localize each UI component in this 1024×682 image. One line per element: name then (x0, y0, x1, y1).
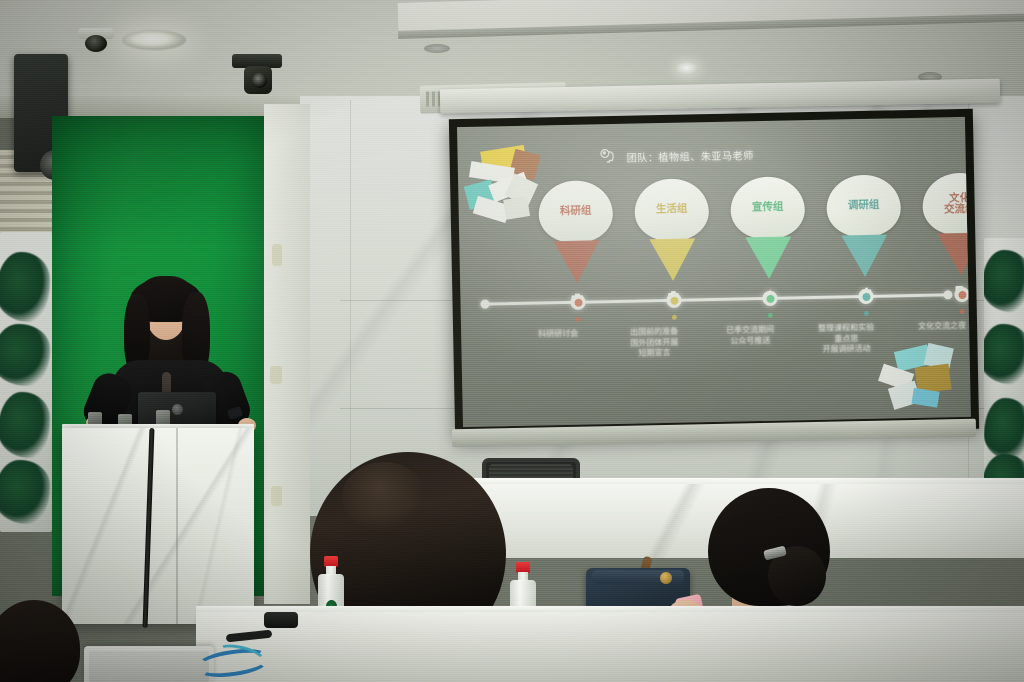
timeline-node-4 (858, 289, 873, 304)
mic-base (264, 612, 298, 628)
dome-camera-icon (78, 28, 114, 54)
slide-balloon-row: 科研组 生活组 (458, 173, 968, 303)
wall-mural-right (984, 238, 1024, 508)
front-desk (196, 612, 1024, 682)
slide-title: 团队：植物组、朱亚马老师 (597, 143, 754, 168)
pillar-stain-3 (271, 486, 282, 506)
timeline-dot-2 (672, 315, 677, 320)
downlight-2 (676, 62, 698, 75)
balloon-top-5: 文化 交流组 (922, 172, 971, 235)
caption-4: 整理课程和实验 重点思 开展调研活动 (798, 322, 895, 355)
brain-idea-icon (597, 146, 619, 168)
caption-3: 已季交流期间 公众号推送 (702, 324, 798, 347)
balloon-cone-1 (553, 240, 600, 283)
caption-5: 文化交流之夜 (894, 320, 971, 332)
balloon-item-1: 科研组 (538, 180, 614, 283)
balloon-item-5: 文化 交流组 (922, 172, 971, 275)
balloon-label-4: 调研组 (848, 200, 880, 212)
timeline-dot-3 (768, 313, 773, 318)
ceiling-light-icon (122, 30, 186, 50)
balloon-item-4: 调研组 (826, 174, 902, 277)
balloon-top-1: 科研组 (538, 180, 613, 243)
timeline-node-3 (762, 291, 777, 306)
slide-corner-art-bottom-right (873, 345, 964, 421)
timeline-dot-5 (960, 309, 965, 314)
projector-screen-frame[interactable]: 团队：植物组、朱亚马老师 科研组 生活组 (449, 109, 979, 439)
balloon-top-3: 宣传组 (730, 176, 805, 239)
balloon-cone-4 (841, 235, 888, 278)
downlight-1 (424, 44, 450, 53)
timeline-cap-left (480, 300, 489, 309)
timeline-cap-right (943, 290, 952, 299)
lecture-room-photo: 团队：植物组、朱亚马老师 科研组 生活组 (0, 0, 1024, 682)
balloon-label-3: 宣传组 (752, 202, 784, 214)
timeline-node-2 (666, 293, 681, 308)
slide-captions: 科研研讨会 出国前的准备 国外团体开展 短期宣言 已季交流期间 公众号推送 整理… (461, 321, 969, 331)
timeline-node-1 (570, 295, 585, 310)
balloon-item-3: 宣传组 (730, 176, 806, 279)
timeline-dot-4 (864, 311, 869, 316)
balloon-label-1: 科研组 (560, 206, 592, 218)
balloon-label-2: 生活组 (656, 204, 688, 216)
balloon-item-2: 生活组 (634, 178, 710, 281)
wall-seam-v1 (350, 100, 351, 500)
balloon-cone-5 (937, 233, 971, 276)
timeline-node-5 (954, 287, 969, 302)
slide-title-text: 团队：植物组、朱亚马老师 (626, 147, 753, 165)
silver-laptop[interactable] (84, 646, 214, 682)
caption-1: 科研研讨会 (510, 328, 606, 340)
pillar-stain-2 (270, 366, 282, 384)
balloon-top-4: 调研组 (826, 174, 901, 237)
balloon-cone-3 (745, 236, 792, 279)
ptz-camera-icon (232, 54, 282, 96)
projected-slide: 团队：植物组、朱亚马老师 科研组 生活组 (457, 117, 971, 427)
marble-podium (62, 428, 254, 624)
podium-edge (176, 428, 178, 624)
wall-mural-left (0, 232, 52, 532)
balloon-label-5: 文化 交流组 (944, 192, 971, 216)
timeline-dot-1 (576, 317, 581, 322)
balloon-cone-2 (649, 238, 696, 281)
balloon-top-2: 生活组 (634, 178, 709, 241)
pillar-stain-1 (272, 244, 282, 266)
caption-2: 出国前的准备 国外团体开展 短期宣言 (606, 326, 703, 359)
